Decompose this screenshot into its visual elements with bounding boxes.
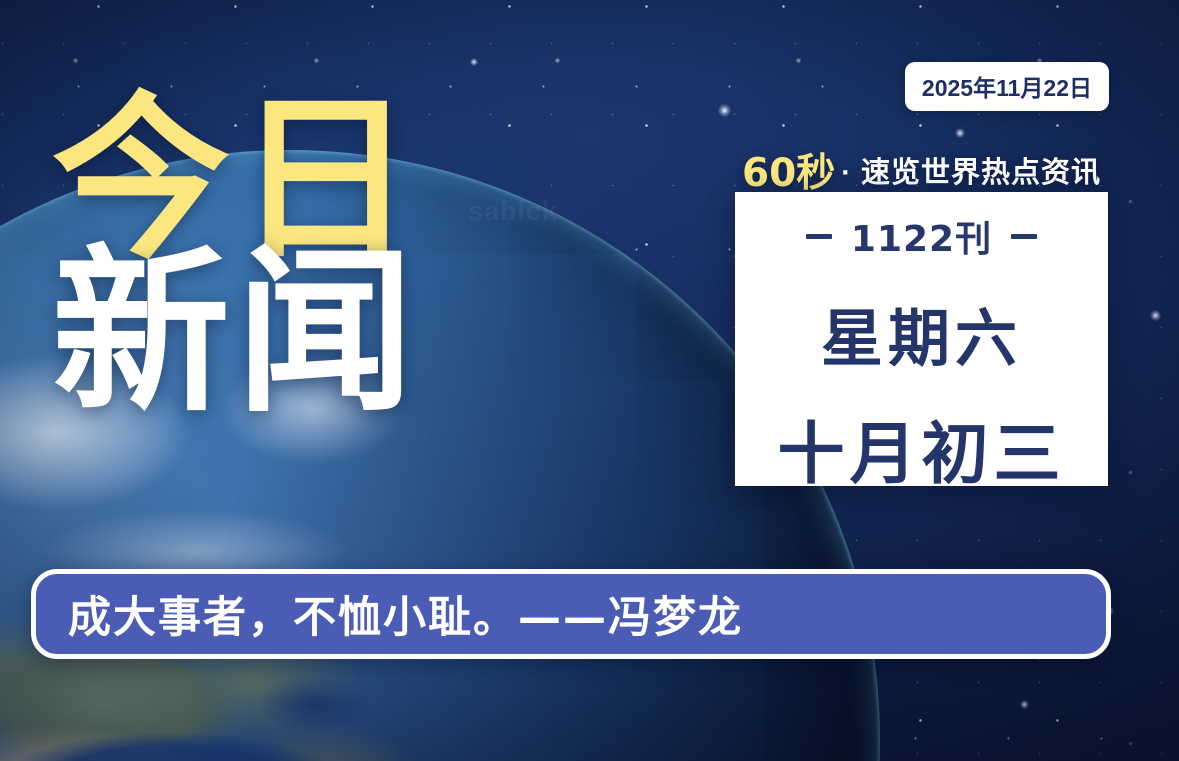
tagline-duration: 60秒 <box>742 151 835 196</box>
quote-bar: 成大事者，不恤小耻。——冯梦龙 <box>31 569 1111 659</box>
lunar-date-label: 十月初三 <box>778 400 1066 497</box>
title-line-xinwen: 新闻 <box>52 249 420 416</box>
tagline-description: · 速览世界热点资讯 <box>841 157 1101 189</box>
news-poster: sablck 今日 新闻 2025年11月22日 60秒· 速览世界热点资讯 1… <box>0 0 1179 761</box>
date-badge: 2025年11月22日 <box>905 62 1109 111</box>
issue-dash-right <box>1011 234 1037 239</box>
tagline: 60秒· 速览世界热点资讯 <box>742 142 1101 198</box>
issue-row: 1122刊 <box>806 210 1037 262</box>
info-card: 1122刊 星期六 十月初三 <box>735 192 1108 486</box>
page-title: 今日 新闻 <box>52 96 420 417</box>
quote-text: 成大事者，不恤小耻。——冯梦龙 <box>68 583 743 645</box>
weekday-label: 星期六 <box>821 288 1022 378</box>
issue-dash-left <box>806 234 832 239</box>
issue-number: 1122刊 <box>851 210 992 262</box>
